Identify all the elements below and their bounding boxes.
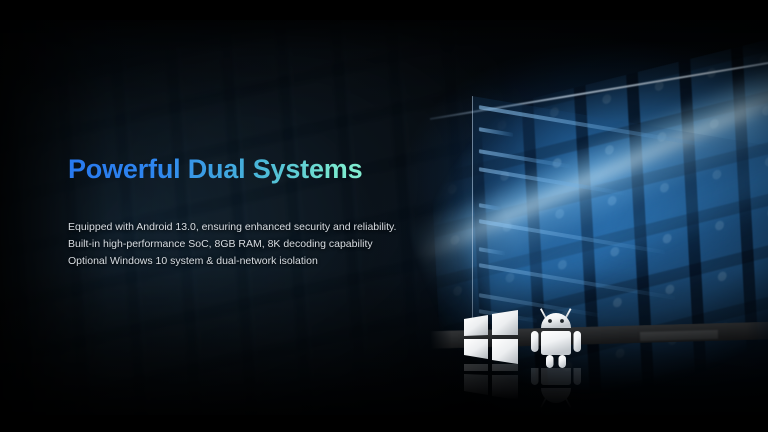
code-line <box>479 149 571 168</box>
text-block: Powerful Dual Systems Equipped with Andr… <box>68 152 396 270</box>
windows-logo <box>462 310 520 364</box>
feature-line-2: Built-in high-performance SoC, 8GB RAM, … <box>68 236 396 253</box>
android-logo <box>528 306 584 368</box>
code-line <box>479 247 505 255</box>
code-line <box>479 127 513 137</box>
feature-list: Equipped with Android 13.0, ensuring enh… <box>68 219 396 270</box>
letterbox-top <box>0 0 768 20</box>
code-line <box>479 263 675 300</box>
android-eye-left <box>548 319 552 323</box>
code-line <box>479 203 501 211</box>
letterbox-bottom <box>0 415 768 432</box>
feature-line-3: Optional Windows 10 system & dual-networ… <box>68 253 396 270</box>
android-eye-right <box>560 319 564 323</box>
page-title: Powerful Dual Systems <box>68 152 396 186</box>
windows-logo-reflection <box>462 364 520 400</box>
code-line <box>479 167 627 196</box>
slide-canvas: Powerful Dual Systems Equipped with Andr… <box>0 0 768 432</box>
feature-line-1: Equipped with Android 13.0, ensuring enh… <box>68 219 396 236</box>
android-logo-reflection <box>528 368 584 410</box>
code-line <box>479 219 665 254</box>
